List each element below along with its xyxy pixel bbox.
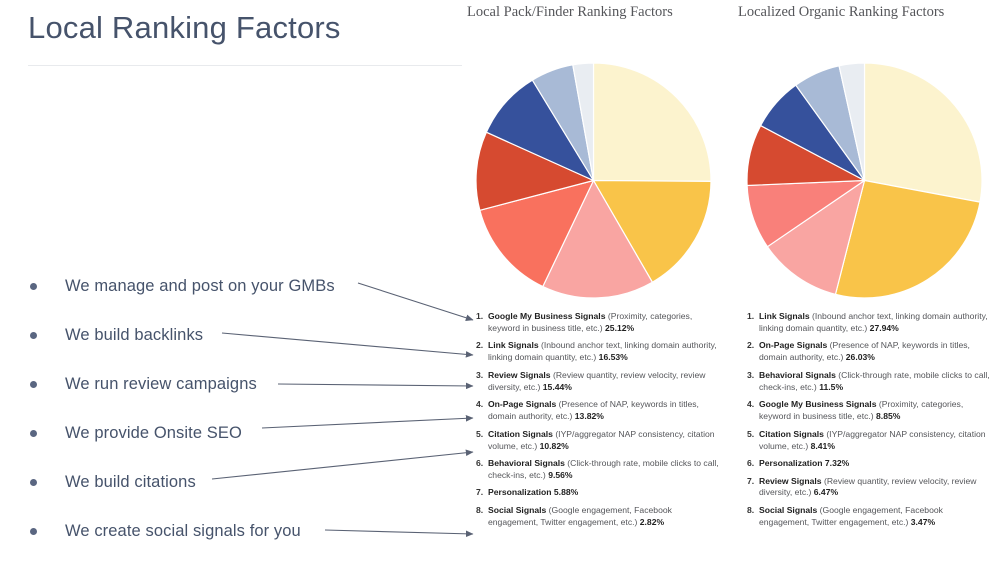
list-item: We build citations: [22, 458, 452, 507]
legend-percentage: 9.56%: [548, 470, 572, 480]
legend-percentage: 5.88%: [554, 487, 578, 497]
legend-text: Google My Business Signals (Proximity, c…: [488, 311, 724, 335]
chart-panel-localized-organic: Localized Organic Ranking Factors 1.Link…: [735, 0, 1000, 570]
page-title: Local Ranking Factors: [28, 10, 341, 46]
legend-item: 5.Citation Signals (IYP/aggregator NAP c…: [476, 429, 724, 453]
legend-factor-name: Link Signals: [488, 340, 539, 350]
list-item: We manage and post on your GMBs: [22, 262, 452, 311]
legend-text: Personalization 5.88%: [488, 487, 724, 499]
bullet-dot-icon: [30, 430, 37, 437]
legend-factor-name: Personalization: [759, 458, 823, 468]
legend-factor-name: Review Signals: [759, 476, 822, 486]
legend-percentage: 10.82%: [540, 441, 569, 451]
legend-text: Citation Signals (IYP/aggregator NAP con…: [488, 429, 724, 453]
title-divider: [28, 65, 462, 66]
legend-percentage: 6.47%: [814, 487, 838, 497]
legend-factor-name: Social Signals: [759, 505, 817, 515]
legend-number: 6.: [747, 458, 759, 470]
legend-number: 1.: [476, 311, 488, 335]
legend-item: 3.Review Signals (Review quantity, revie…: [476, 370, 724, 394]
legend-percentage: 3.47%: [911, 517, 935, 527]
legend-factor-name: On-Page Signals: [488, 399, 556, 409]
legend-factor-name: Personalization: [488, 487, 552, 497]
legend-number: 7.: [747, 476, 759, 500]
legend-factor-name: Review Signals: [488, 370, 551, 380]
legend-factor-name: On-Page Signals: [759, 340, 827, 350]
bullet-label: We build backlinks: [65, 326, 203, 345]
legend-number: 3.: [747, 370, 759, 394]
legend-item: 7.Personalization 5.88%: [476, 487, 724, 499]
legend-text: Google My Business Signals (Proximity, c…: [759, 399, 995, 423]
legend-item: 4.On-Page Signals (Presence of NAP, keyw…: [476, 399, 724, 423]
bullet-label: We manage and post on your GMBs: [65, 277, 335, 296]
legend-text: Link Signals (Inbound anchor text, linki…: [488, 340, 724, 364]
legend-item: 2.Link Signals (Inbound anchor text, lin…: [476, 340, 724, 364]
legend-percentage: 13.82%: [575, 411, 604, 421]
legend-item: 1.Link Signals (Inbound anchor text, lin…: [747, 311, 995, 335]
pie-chart-local-pack: [476, 63, 711, 298]
legend-item: 6.Behavioral Signals (Click-through rate…: [476, 458, 724, 482]
bullet-label: We run review campaigns: [65, 375, 257, 394]
legend-item: 4.Google My Business Signals (Proximity,…: [747, 399, 995, 423]
legend-text: Personalization 7.32%: [759, 458, 995, 470]
legend-percentage: 7.32%: [825, 458, 849, 468]
legend-text: Citation Signals (IYP/aggregator NAP con…: [759, 429, 995, 453]
legend-item: 3.Behavioral Signals (Click-through rate…: [747, 370, 995, 394]
legend-number: 2.: [747, 340, 759, 364]
bullet-label: We provide Onsite SEO: [65, 424, 242, 443]
bullet-dot-icon: [30, 283, 37, 290]
legend-number: 8.: [747, 505, 759, 529]
legend-number: 1.: [747, 311, 759, 335]
legend-percentage: 26.03%: [846, 352, 875, 362]
legend-item: 8.Social Signals (Google engagement, Fac…: [476, 505, 724, 529]
legend-number: 6.: [476, 458, 488, 482]
legend-text: Social Signals (Google engagement, Faceb…: [488, 505, 724, 529]
legend-number: 4.: [476, 399, 488, 423]
legend-factor-name: Citation Signals: [759, 429, 824, 439]
legend-item: 5.Citation Signals (IYP/aggregator NAP c…: [747, 429, 995, 453]
legend-percentage: 25.12%: [605, 323, 634, 333]
legend-text: On-Page Signals (Presence of NAP, keywor…: [759, 340, 995, 364]
list-item: We create social signals for you: [22, 507, 452, 556]
legend-item: 6.Personalization 7.32%: [747, 458, 995, 470]
legend-text: On-Page Signals (Presence of NAP, keywor…: [488, 399, 724, 423]
legend-factor-name: Link Signals: [759, 311, 810, 321]
legend-text: Review Signals (Review quantity, review …: [759, 476, 995, 500]
legend-number: 3.: [476, 370, 488, 394]
list-item: We provide Onsite SEO: [22, 409, 452, 458]
legend-number: 8.: [476, 505, 488, 529]
legend-text: Social Signals (Google engagement, Faceb…: [759, 505, 995, 529]
legend-factor-name: Citation Signals: [488, 429, 553, 439]
legend-factor-name: Behavioral Signals: [488, 458, 565, 468]
bullet-dot-icon: [30, 528, 37, 535]
legend-item: 1.Google My Business Signals (Proximity,…: [476, 311, 724, 335]
legend-factor-name: Social Signals: [488, 505, 546, 515]
list-item: We run review campaigns: [22, 360, 452, 409]
legend-percentage: 11.5%: [819, 382, 843, 392]
legend-item: 8.Social Signals (Google engagement, Fac…: [747, 505, 995, 529]
legend-percentage: 8.41%: [811, 441, 835, 451]
benefits-bullet-list: We manage and post on your GMBs We build…: [22, 262, 452, 556]
bullet-dot-icon: [30, 479, 37, 486]
legend-item: 2.On-Page Signals (Presence of NAP, keyw…: [747, 340, 995, 364]
legend-number: 5.: [476, 429, 488, 453]
legend-number: 4.: [747, 399, 759, 423]
legend-factor-name: Google My Business Signals: [759, 399, 876, 409]
legend-percentage: 16.53%: [599, 352, 628, 362]
chart-legend-localized-organic: 1.Link Signals (Inbound anchor text, lin…: [747, 311, 995, 534]
chart-title: Localized Organic Ranking Factors: [738, 3, 953, 22]
pie-chart-localized-organic: [747, 63, 982, 298]
legend-item: 7.Review Signals (Review quantity, revie…: [747, 476, 995, 500]
legend-text: Review Signals (Review quantity, review …: [488, 370, 724, 394]
bullet-dot-icon: [30, 381, 37, 388]
bullet-dot-icon: [30, 332, 37, 339]
left-panel: Local Ranking Factors We manage and post…: [0, 0, 470, 570]
legend-percentage: 8.85%: [876, 411, 900, 421]
pie-slice: [594, 63, 712, 181]
bullet-label: We create social signals for you: [65, 522, 301, 541]
legend-text: Link Signals (Inbound anchor text, linki…: [759, 311, 995, 335]
pie-slice: [865, 63, 983, 202]
legend-factor-name: Behavioral Signals: [759, 370, 836, 380]
legend-number: 5.: [747, 429, 759, 453]
list-item: We build backlinks: [22, 311, 452, 360]
chart-title: Local Pack/Finder Ranking Factors: [467, 3, 682, 22]
legend-number: 2.: [476, 340, 488, 364]
legend-number: 7.: [476, 487, 488, 499]
legend-factor-name: Google My Business Signals: [488, 311, 605, 321]
legend-percentage: 2.82%: [640, 517, 664, 527]
legend-text: Behavioral Signals (Click-through rate, …: [759, 370, 995, 394]
legend-text: Behavioral Signals (Click-through rate, …: [488, 458, 724, 482]
bullet-label: We build citations: [65, 473, 196, 492]
legend-percentage: 27.94%: [870, 323, 899, 333]
chart-panel-local-pack: Local Pack/Finder Ranking Factors 1.Goog…: [464, 0, 729, 570]
legend-percentage: 15.44%: [543, 382, 572, 392]
chart-legend-local-pack: 1.Google My Business Signals (Proximity,…: [476, 311, 724, 534]
